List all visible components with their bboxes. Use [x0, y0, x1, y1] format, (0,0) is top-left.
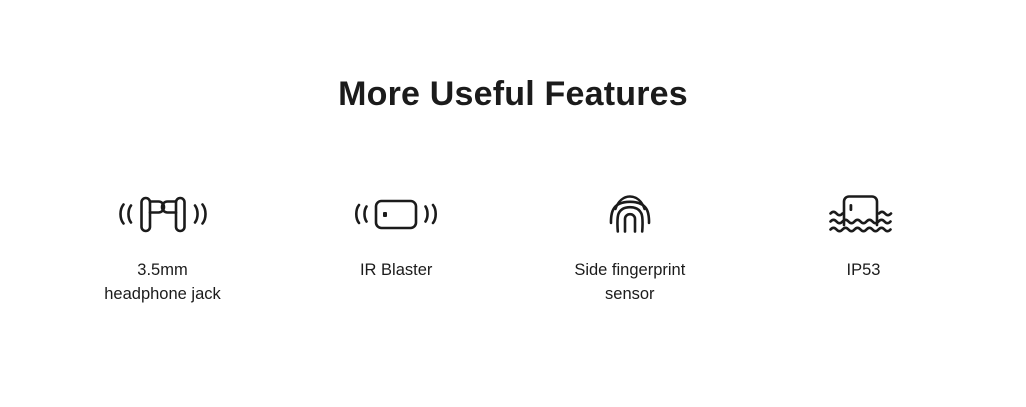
- earbuds-waves-icon: [111, 186, 215, 242]
- feature-item-headphone-jack: 3.5mm headphone jack: [46, 186, 279, 306]
- feature-item-ip53: IP53: [747, 186, 980, 282]
- page-title: More Useful Features: [0, 72, 1026, 116]
- feature-item-ir-blaster: IR Blaster: [280, 186, 513, 282]
- feature-label-ir-blaster: IR Blaster: [360, 258, 432, 282]
- more-useful-features-section: More Useful Features: [0, 0, 1026, 407]
- feature-item-fingerprint: Side fingerprint sensor: [513, 186, 746, 306]
- feature-label-ip53: IP53: [846, 258, 880, 282]
- ir-blaster-remote-waves-icon: [350, 186, 442, 242]
- features-row: 3.5mm headphone jack IR Blaster: [46, 186, 980, 306]
- fingerprint-icon: [604, 186, 656, 242]
- feature-label-headphone-jack: 3.5mm headphone jack: [104, 258, 221, 306]
- feature-label-fingerprint: Side fingerprint sensor: [574, 258, 685, 306]
- phone-in-water-icon: [828, 186, 898, 242]
